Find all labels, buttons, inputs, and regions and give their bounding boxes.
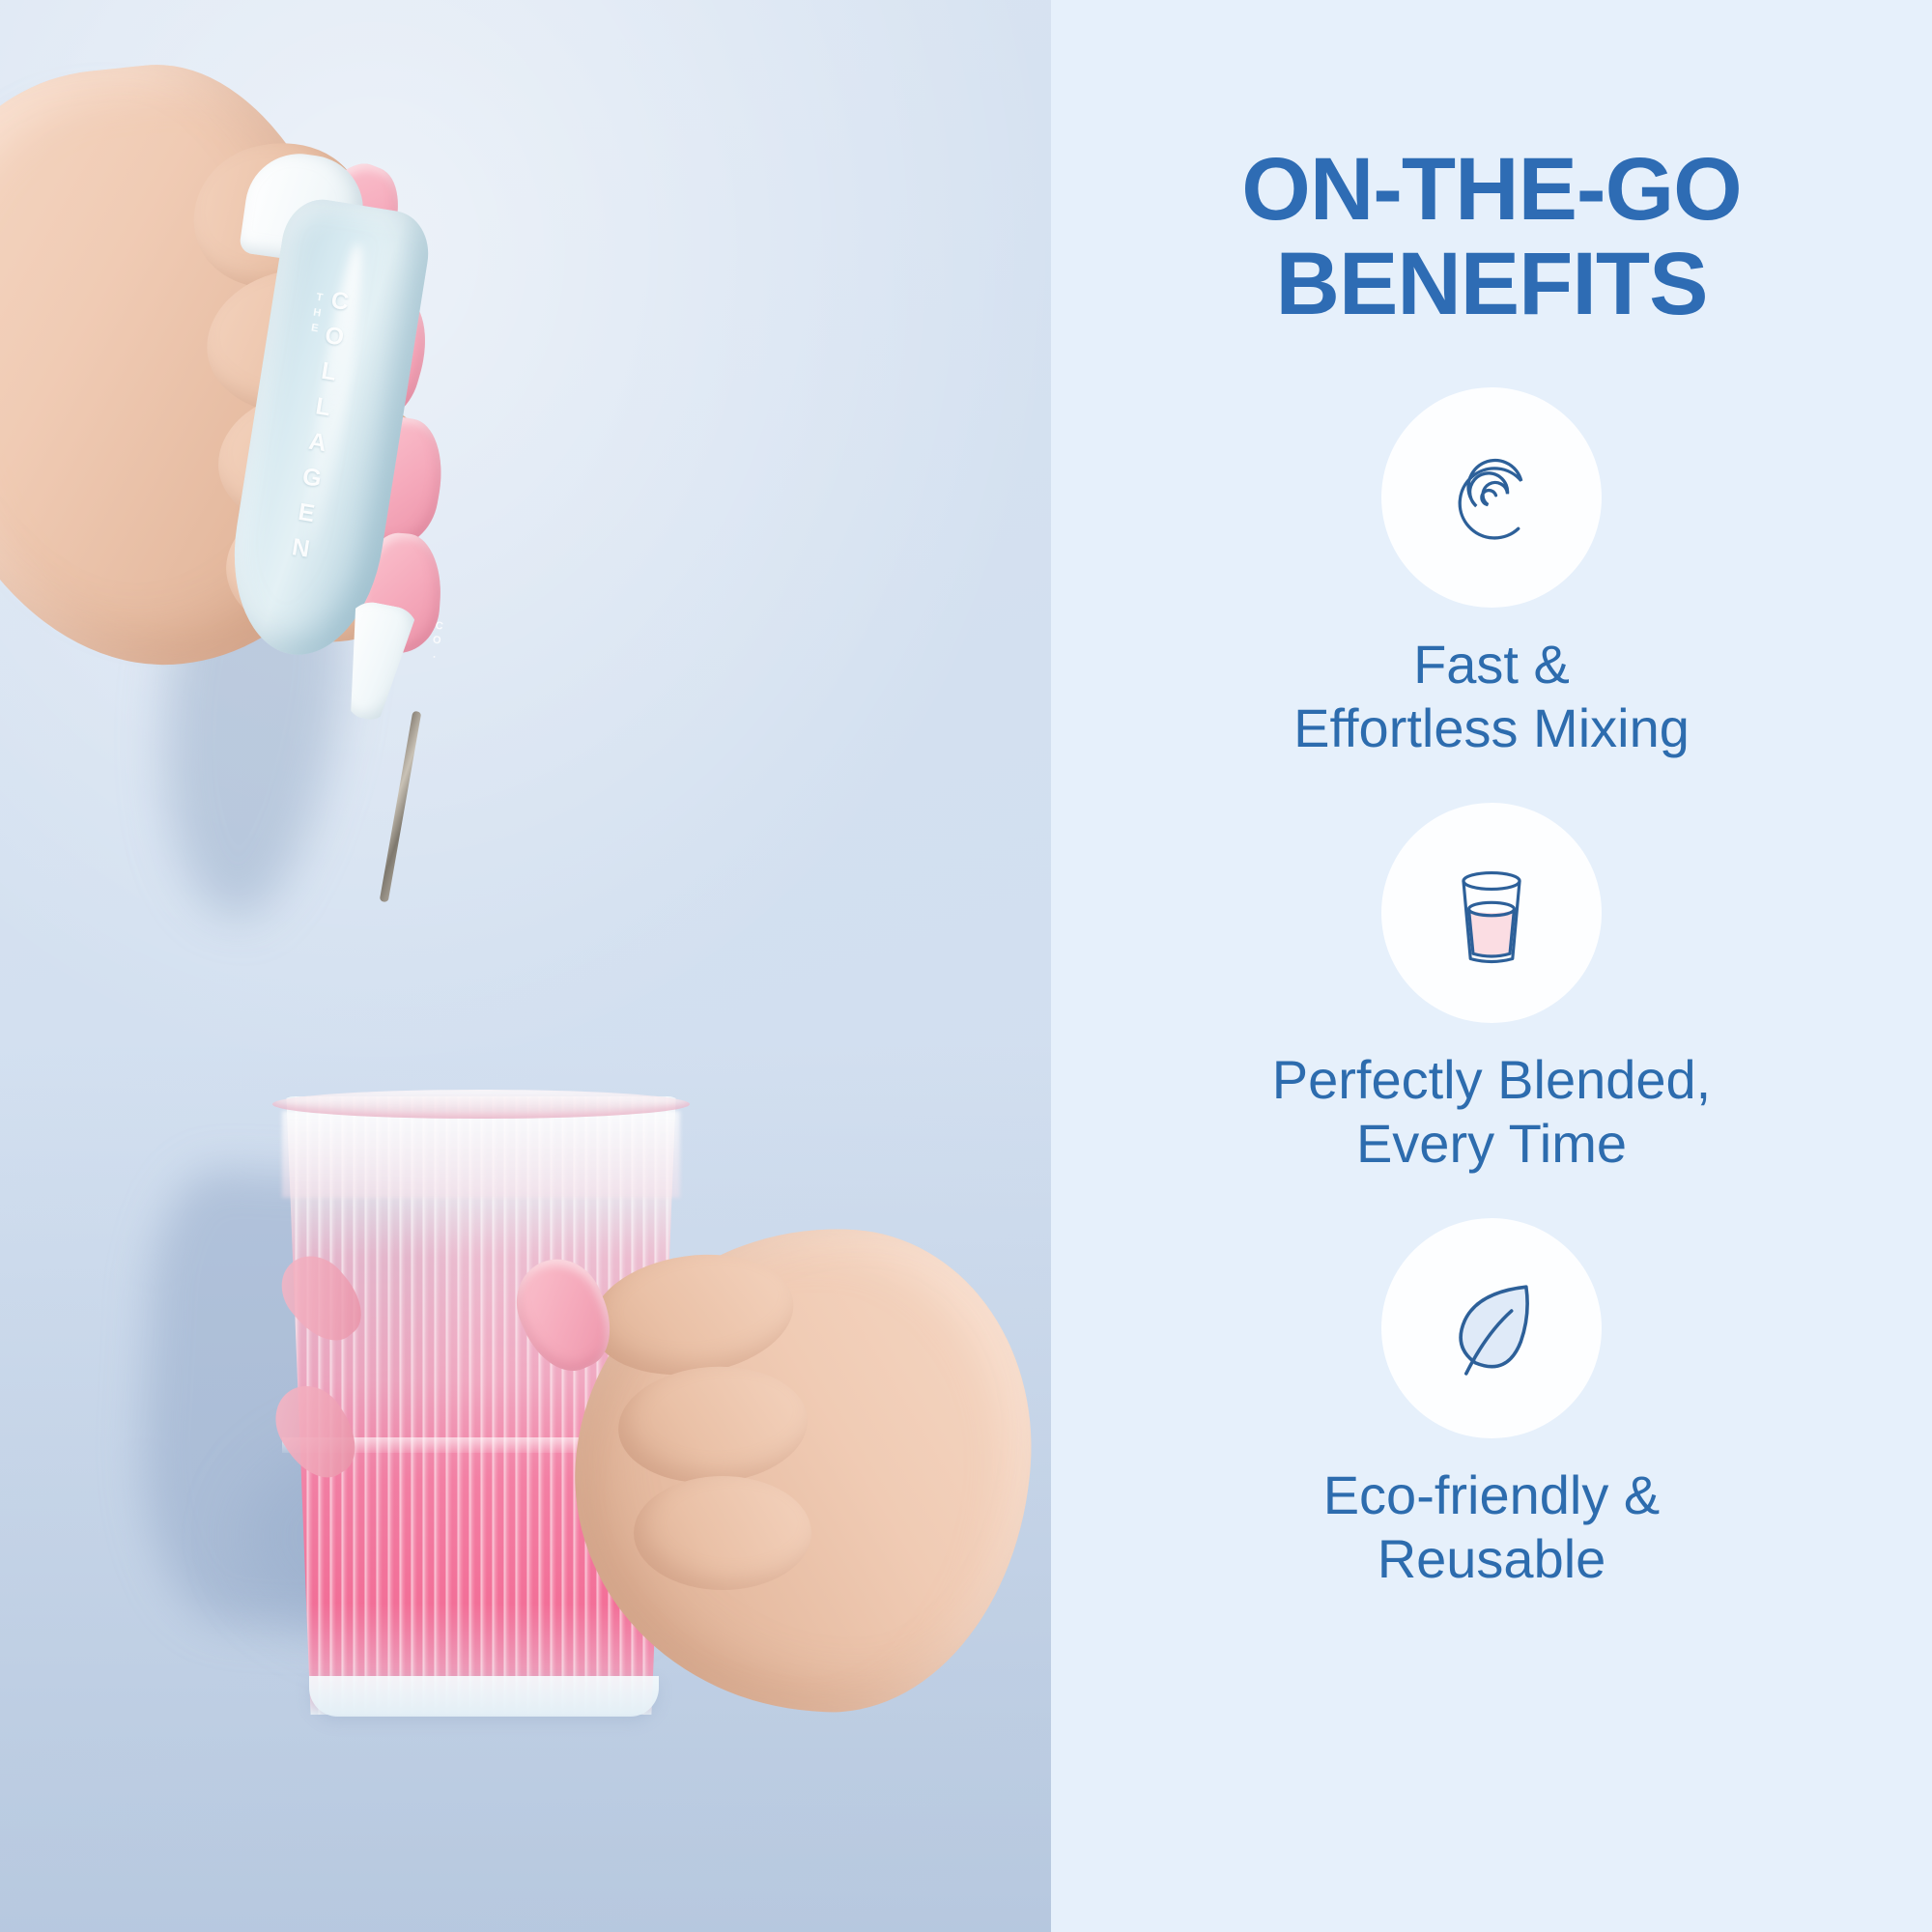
benefit-item-fast-mixing: Fast & Effortless Mixing: [1293, 387, 1690, 760]
benefits-panel: ON-THE-GO BENEFITS Fast & Effortless Mix…: [1051, 0, 1932, 1932]
finger-segment: [634, 1476, 811, 1590]
benefit-label: Eco-friendly & Reusable: [1323, 1463, 1661, 1591]
benefit-item-perfectly-blended: Perfectly Blended, Every Time: [1272, 803, 1711, 1176]
product-photo-panel: THE COLLAGEN CO.: [0, 0, 1051, 1932]
icon-circle: [1381, 387, 1602, 608]
benefits-title: ON-THE-GO BENEFITS: [1086, 143, 1897, 331]
benefits-list: Fast & Effortless Mixing P: [1272, 387, 1711, 1591]
benefit-item-eco-friendly: Eco-friendly & Reusable: [1323, 1218, 1661, 1591]
glass-base: [309, 1676, 659, 1717]
spiral-mix-icon: [1419, 425, 1564, 570]
benefit-label: Fast & Effortless Mixing: [1293, 633, 1690, 760]
icon-circle: [1381, 1218, 1602, 1438]
icon-circle: [1381, 803, 1602, 1023]
glass-of-drink-icon: [1428, 849, 1555, 977]
frother-whisk-shaft: [380, 711, 422, 903]
glass-rim: [272, 1090, 690, 1119]
benefit-label: Perfectly Blended, Every Time: [1272, 1048, 1711, 1176]
leaf-icon: [1425, 1262, 1558, 1395]
drink-foam: [282, 1111, 680, 1198]
promo-infographic: THE COLLAGEN CO. ON-THE-GO BENEFITS: [0, 0, 1932, 1932]
